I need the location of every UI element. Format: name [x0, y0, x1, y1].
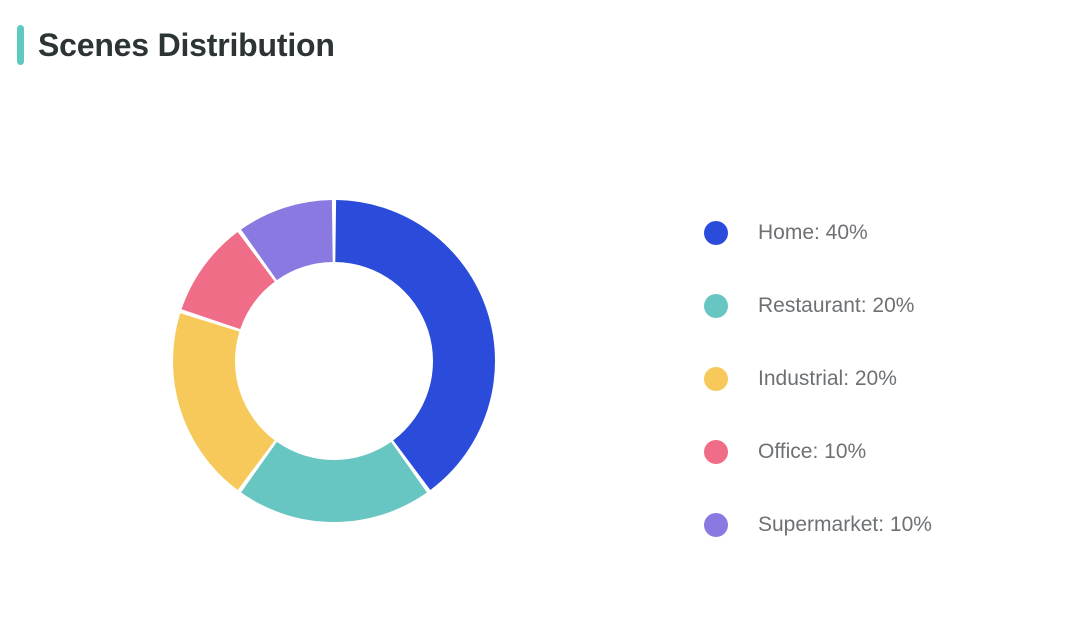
donut-slice-home[interactable]: Home: 40% — [335, 200, 495, 490]
donut-slice-restaurant[interactable]: Restaurant: 20% — [241, 442, 427, 522]
legend-item-label: Supermarket: 10% — [758, 514, 932, 535]
legend-swatch-icon — [704, 294, 728, 318]
legend-swatch-icon — [704, 221, 728, 245]
page-title: Scenes Distribution — [38, 29, 335, 61]
donut-slice-group: Home: 40%Restaurant: 20%Industrial: 20%O… — [173, 200, 495, 522]
title-accent-bar — [17, 25, 24, 65]
legend-item-supermarket[interactable]: Supermarket: 10% — [704, 488, 1034, 561]
chart-legend: Home: 40%Restaurant: 20%Industrial: 20%O… — [704, 196, 1034, 561]
legend-swatch-icon — [704, 513, 728, 537]
legend-item-label: Restaurant: 20% — [758, 295, 914, 316]
legend-item-home[interactable]: Home: 40% — [704, 196, 1034, 269]
legend-item-label: Home: 40% — [758, 222, 868, 243]
donut-slice-industrial[interactable]: Industrial: 20% — [173, 313, 275, 490]
legend-item-industrial[interactable]: Industrial: 20% — [704, 342, 1034, 415]
legend-swatch-icon — [704, 367, 728, 391]
donut-chart: Home: 40%Restaurant: 20%Industrial: 20%O… — [173, 200, 495, 522]
legend-item-restaurant[interactable]: Restaurant: 20% — [704, 269, 1034, 342]
donut-chart-svg: Home: 40%Restaurant: 20%Industrial: 20%O… — [173, 200, 495, 522]
legend-item-office[interactable]: Office: 10% — [704, 415, 1034, 488]
legend-item-label: Industrial: 20% — [758, 368, 897, 389]
legend-swatch-icon — [704, 440, 728, 464]
legend-item-label: Office: 10% — [758, 441, 866, 462]
page-header: Scenes Distribution — [0, 0, 1080, 90]
chart-area: Home: 40%Restaurant: 20%Industrial: 20%O… — [0, 90, 660, 632]
